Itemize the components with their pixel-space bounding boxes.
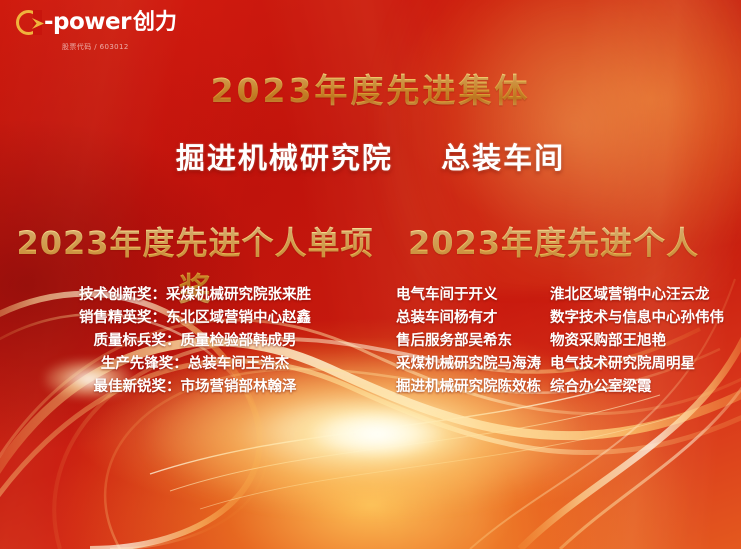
person-name: 电气车间于开义 (396, 284, 550, 307)
person-name: 综合办公室梁霞 (550, 376, 724, 399)
list-item: 销售精英奖：东北区域营销中心赵鑫 (79, 307, 311, 330)
list-item: 技术创新奖：采煤机械研究院张来胜 (79, 284, 311, 307)
poster-content: -power 创力 股票代码 / 603012 2023年度先进集体 掘进机械研… (0, 0, 741, 549)
person-name: 售后服务部吴希东 (396, 330, 550, 353)
logo-chinese-name: 创力 (133, 12, 177, 34)
logo-stock-code: 股票代码 / 603012 (62, 42, 129, 52)
person-name: 物资采购部王旭艳 (550, 330, 724, 353)
c-power-logo-mark-icon (16, 10, 41, 35)
individual-awards-list: 电气车间于开义 淮北区域营销中心汪云龙 总装车间杨有才 数字技术与信息中心孙伟伟… (390, 284, 741, 399)
logo-wordmark: -power (44, 11, 131, 34)
person-name: 数字技术与信息中心孙伟伟 (550, 307, 724, 330)
logo-row: -power 创力 (16, 10, 177, 35)
person-name: 采煤机械研究院马海涛 (396, 353, 550, 376)
person-name: 淮北区域营销中心汪云龙 (550, 284, 724, 307)
list-item: 最佳新锐奖：市场营销部林翰泽 (94, 376, 297, 399)
list-item: 售后服务部吴希东 物资采购部王旭艳 (396, 330, 724, 353)
special-awards-list: 技术创新奖：采煤机械研究院张来胜 销售精英奖：东北区域营销中心赵鑫 质量标兵奖：… (0, 284, 390, 399)
winner-lists: 技术创新奖：采煤机械研究院张来胜 销售精英奖：东北区域营销中心赵鑫 质量标兵奖：… (0, 284, 741, 399)
collective-winners: 掘进机械研究院 总装车间 (0, 135, 741, 177)
list-item: 总装车间杨有才 数字技术与信息中心孙伟伟 (396, 307, 724, 330)
person-name: 电气技术研究院周明星 (550, 353, 724, 376)
person-name: 总装车间杨有才 (396, 307, 550, 330)
page-title: 2023年度先进集体 (0, 64, 741, 112)
list-item: 质量标兵奖：质量检验部韩成男 (94, 330, 297, 353)
person-name: 掘进机械研究院陈效栋 (396, 376, 550, 399)
list-item: 生产先锋奖：总装车间王浩杰 (101, 353, 290, 376)
company-logo: -power 创力 股票代码 / 603012 (16, 10, 177, 52)
award-poster: -power 创力 股票代码 / 603012 2023年度先进集体 掘进机械研… (0, 0, 741, 549)
list-item: 电气车间于开义 淮北区域营销中心汪云龙 (396, 284, 724, 307)
collective-winner-1: 掘进机械研究院 (176, 141, 393, 175)
collective-winner-2: 总装车间 (441, 141, 565, 175)
list-item: 掘进机械研究院陈效栋 综合办公室梁霞 (396, 376, 724, 399)
list-item: 采煤机械研究院马海涛 电气技术研究院周明星 (396, 353, 724, 376)
